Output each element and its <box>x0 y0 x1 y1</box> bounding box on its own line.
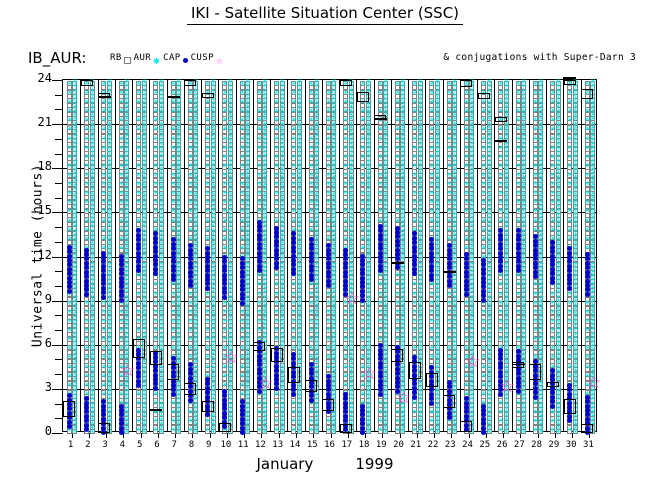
aur-asterisk: ✳ <box>308 326 315 333</box>
aur-asterisk: ✳ <box>170 135 177 142</box>
y-tick-minor-16 <box>55 198 63 199</box>
aur-asterisk: ✳ <box>135 390 142 397</box>
day-column-4: ✳✳✳✳✳✳✳✳✳✳✳✳✳✳✳✳✳✳✳✳✳✳✳✳✳✳✳✳✳✳✳✳✳✳✳✳✳✳✳✳… <box>115 80 132 431</box>
cap-dot <box>188 243 193 248</box>
cap-dot <box>240 261 245 266</box>
aur-asterisk: ✳ <box>100 98 107 105</box>
aur-asterisk: ✳ <box>83 189 90 196</box>
aur-asterisk: ✳ <box>273 217 280 224</box>
aur-asterisk: ✳ <box>204 226 211 233</box>
aur-asterisk: ✳ <box>187 335 194 342</box>
cap-dot <box>84 401 89 406</box>
aur-asterisk: ✳ <box>135 171 142 178</box>
aur-asterisk: ✳ <box>152 335 159 342</box>
cap-dot <box>257 220 262 225</box>
aur-asterisk: ✳ <box>170 125 177 132</box>
aur-asterisk: ✳ <box>135 189 142 196</box>
aur-asterisk: ✳ <box>239 390 246 397</box>
aur-asterisk: ✳ <box>290 426 297 433</box>
aur-asterisk: ✳ <box>290 207 297 214</box>
legend-label-aur: AUR <box>134 53 151 63</box>
aur-asterisk: ✳ <box>308 408 315 415</box>
aur-asterisk: ✳ <box>221 217 228 224</box>
aur-asterisk: ✳ <box>83 207 90 214</box>
legend-label-cusp: CUSP <box>191 53 214 63</box>
aur-asterisk: ✳ <box>273 89 280 96</box>
aur-asterisk: ✳ <box>118 308 125 315</box>
aur-asterisk: ✳ <box>118 335 125 342</box>
cap-dot <box>188 252 193 257</box>
aur-asterisk: ✳ <box>170 299 177 306</box>
aur-asterisk: ✳ <box>221 89 228 96</box>
legend-label-cap: CAP <box>163 53 180 63</box>
cap-dot <box>171 237 176 242</box>
aur-asterisk: ✳ <box>135 80 142 87</box>
aur-asterisk: ✳ <box>118 98 125 105</box>
aur-asterisk: ✳ <box>152 80 159 87</box>
aur-asterisk: ✳ <box>135 308 142 315</box>
aur-asterisk: ✳ <box>66 198 73 205</box>
aur-asterisk: ✳ <box>239 372 246 379</box>
aur-asterisk: ✳ <box>256 317 263 324</box>
aur-asterisk: ✳ <box>83 326 90 333</box>
y-tick-minor-4 <box>55 374 63 375</box>
cap-dot <box>240 417 245 422</box>
cap-dot <box>309 255 314 260</box>
aur-asterisk: ✳ <box>325 217 332 224</box>
aur-asterisk: ✳ <box>66 153 73 160</box>
aur-asterisk: ✳ <box>239 363 246 370</box>
aur-asterisk: ✳ <box>325 299 332 306</box>
cap-dot <box>136 379 141 384</box>
aur-asterisk: ✳ <box>325 326 332 333</box>
y-tick-major-21 <box>52 124 63 125</box>
aur-asterisk: ✳ <box>187 353 194 360</box>
aur-asterisk: ✳ <box>66 162 73 169</box>
aur-asterisk: ✳ <box>204 235 211 242</box>
cap-dot <box>274 239 279 244</box>
cap-dot <box>257 224 262 229</box>
aur-asterisk: ✳ <box>256 399 263 406</box>
aur-asterisk: ✳ <box>256 153 263 160</box>
aur-asterisk: ✳ <box>118 135 125 142</box>
aur-asterisk: ✳ <box>325 226 332 233</box>
aur-asterisk: ✳ <box>187 408 194 415</box>
aur-asterisk: ✳ <box>66 372 73 379</box>
aur-asterisk: ✳ <box>325 426 332 433</box>
y-tick-major-15 <box>52 212 63 213</box>
cap-dot <box>257 255 262 260</box>
aur-asterisk: ✳ <box>221 326 228 333</box>
aur-asterisk: ✳ <box>100 372 107 379</box>
cap-dot <box>309 242 314 247</box>
aur-asterisk: ✳ <box>100 381 107 388</box>
aur-asterisk: ✳ <box>135 399 142 406</box>
aur-asterisk: ✳ <box>221 226 228 233</box>
aur-asterisk: ✳ <box>152 299 159 306</box>
y-tick-minor-5 <box>55 359 63 360</box>
aur-asterisk: ✳ <box>152 280 159 287</box>
aur-asterisk: ✳ <box>290 189 297 196</box>
aur-asterisk: ✳ <box>100 207 107 214</box>
page-title-text: IKI - Satellite Situation Center (SSC) <box>187 4 463 25</box>
aur-asterisk: ✳ <box>325 125 332 132</box>
cap-dot <box>222 398 227 403</box>
aur-asterisk: ✳ <box>256 417 263 424</box>
day-column-13: ✳✳✳✳✳✳✳✳✳✳✳✳✳✳✳✳✳✳✳✳✳✳✳✳✳✳✳✳✳✳✳✳✳✳✳✳✳✳✳✳… <box>270 80 287 431</box>
cap-dot <box>240 283 245 288</box>
aur-asterisk: ✳ <box>221 153 228 160</box>
aur-asterisk: ✳ <box>273 135 280 142</box>
aur-asterisk: ✳ <box>187 107 194 114</box>
aur-asterisk: ✳ <box>66 217 73 224</box>
aur-asterisk: ✳ <box>308 144 315 151</box>
cap-dot <box>309 367 314 372</box>
aur-asterisk: ✳ <box>187 135 194 142</box>
cap-dot <box>274 373 279 378</box>
aur-asterisk: ✳ <box>135 153 142 160</box>
cap-dot <box>240 430 245 435</box>
y-tick-minor-13 <box>55 242 63 243</box>
cap-dot <box>240 279 245 284</box>
cap-dot <box>309 237 314 242</box>
aur-asterisk: ✳ <box>290 180 297 187</box>
aur-asterisk: ✳ <box>256 125 263 132</box>
aur-asterisk: ✳ <box>152 290 159 297</box>
aur-asterisk: ✳ <box>100 326 107 333</box>
aur-asterisk: ✳ <box>239 207 246 214</box>
aur-asterisk: ✳ <box>170 326 177 333</box>
aur-asterisk: ✳ <box>83 235 90 242</box>
aur-asterisk: ✳ <box>239 235 246 242</box>
aur-asterisk: ✳ <box>325 198 332 205</box>
aur-asterisk: ✳ <box>66 135 73 142</box>
aur-asterisk: ✳ <box>273 317 280 324</box>
aur-asterisk: ✳ <box>118 125 125 132</box>
cap-dot <box>136 233 141 238</box>
aur-asterisk: ✳ <box>135 317 142 324</box>
aur-asterisk: ✳ <box>273 171 280 178</box>
aur-asterisk: ✳ <box>256 162 263 169</box>
aur-asterisk: ✳ <box>187 162 194 169</box>
aur-asterisk: ✳ <box>256 408 263 415</box>
aur-asterisk: ✳ <box>187 180 194 187</box>
aur-asterisk: ✳ <box>135 162 142 169</box>
open-square-icon <box>124 57 131 64</box>
aur-asterisk: ✳ <box>170 89 177 96</box>
aur-asterisk: ✳ <box>187 144 194 151</box>
aur-asterisk: ✳ <box>290 217 297 224</box>
aur-asterisk: ✳ <box>187 317 194 324</box>
cap-dot <box>84 270 89 275</box>
aur-asterisk: ✳ <box>325 144 332 151</box>
aur-asterisk: ✳ <box>204 217 211 224</box>
aur-asterisk: ✳ <box>290 144 297 151</box>
aur-asterisk: ✳ <box>308 162 315 169</box>
aur-asterisk: ✳ <box>290 408 297 415</box>
aur-asterisk: ✳ <box>308 171 315 178</box>
aur-asterisk: ✳ <box>273 308 280 315</box>
rb-box <box>133 339 145 358</box>
aur-asterisk: ✳ <box>221 317 228 324</box>
aur-asterisk: ✳ <box>170 116 177 123</box>
aur-asterisk: ✳ <box>239 308 246 315</box>
aur-asterisk: ✳ <box>66 235 73 242</box>
cap-dot <box>240 421 245 426</box>
aur-asterisk: ✳ <box>152 326 159 333</box>
cap-dot <box>67 258 72 263</box>
conjugation-note: & conjugations with Super-Darn 3 <box>443 52 636 63</box>
aur-asterisk: ✳ <box>273 399 280 406</box>
aur-asterisk: ✳ <box>290 290 297 297</box>
aur-asterisk: ✳ <box>118 235 125 242</box>
aur-asterisk: ✳ <box>221 144 228 151</box>
aur-asterisk: ✳ <box>239 353 246 360</box>
aur-asterisk: ✳ <box>204 299 211 306</box>
aur-asterisk: ✳ <box>308 198 315 205</box>
aur-asterisk: ✳ <box>239 189 246 196</box>
cap-dot <box>309 273 314 278</box>
aur-asterisk: ✳ <box>239 98 246 105</box>
dataset-label: IB_AUR: <box>28 49 86 67</box>
cap-dot <box>171 383 176 388</box>
aur-asterisk: ✳ <box>152 198 159 205</box>
chart-legend: RBAUR✱CAPCUSP☆ <box>110 53 227 64</box>
aur-asterisk: ✳ <box>66 299 73 306</box>
aur-asterisk: ✳ <box>273 426 280 433</box>
y-tick-minor-23 <box>55 95 63 96</box>
aur-asterisk: ✳ <box>170 162 177 169</box>
aur-asterisk: ✳ <box>100 363 107 370</box>
aur-asterisk: ✳ <box>239 344 246 351</box>
aur-asterisk: ✳ <box>118 162 125 169</box>
cap-dot <box>188 376 193 381</box>
aur-asterisk: ✳ <box>204 125 211 132</box>
aur-asterisk: ✳ <box>290 344 297 351</box>
aur-asterisk: ✳ <box>170 399 177 406</box>
aur-asterisk: ✳ <box>83 198 90 205</box>
aur-asterisk: ✳ <box>135 125 142 132</box>
aur-asterisk: ✳ <box>135 417 142 424</box>
aur-asterisk: ✳ <box>239 125 246 132</box>
cap-dot <box>188 398 193 403</box>
aur-asterisk: ✳ <box>273 280 280 287</box>
aur-asterisk: ✳ <box>273 180 280 187</box>
aur-asterisk: ✳ <box>256 116 263 123</box>
cap-dot <box>240 426 245 431</box>
aur-asterisk: ✳ <box>308 153 315 160</box>
cap-dot <box>274 226 279 231</box>
aur-asterisk: ✳ <box>204 171 211 178</box>
aur-asterisk: ✳ <box>66 363 73 370</box>
aur-asterisk: ✳ <box>308 180 315 187</box>
cap-dot <box>171 246 176 251</box>
aur-asterisk: ✳ <box>239 116 246 123</box>
cap-dot <box>188 248 193 253</box>
aur-asterisk: ✳ <box>100 353 107 360</box>
cap-dot <box>119 404 124 409</box>
aur-asterisk: ✳ <box>118 226 125 233</box>
aur-asterisk: ✳ <box>325 363 332 370</box>
aur-asterisk: ✳ <box>221 299 228 306</box>
aur-asterisk: ✳ <box>118 198 125 205</box>
rb-box <box>271 348 283 363</box>
cap-dot <box>84 248 89 253</box>
aur-asterisk: ✳ <box>83 353 90 360</box>
aur-asterisk: ✳ <box>135 217 142 224</box>
rb-box <box>184 383 196 395</box>
aur-asterisk: ✳ <box>187 98 194 105</box>
rb-box <box>305 380 317 392</box>
aur-asterisk: ✳ <box>204 207 211 214</box>
aur-asterisk: ✳ <box>221 135 228 142</box>
aur-asterisk: ✳ <box>83 89 90 96</box>
day-column-7: ✳✳✳✳✳✳✳✳✳✳✳✳✳✳✳✳✳✳✳✳✳✳✳✳✳✳✳✳✳✳✳✳✳✳✳✳✳✳✳✳… <box>167 80 184 431</box>
cap-dot <box>119 280 124 285</box>
cap-dot <box>171 392 176 397</box>
aur-asterisk: ✳ <box>83 381 90 388</box>
aur-asterisk: ✳ <box>273 417 280 424</box>
aur-asterisk: ✳ <box>325 107 332 114</box>
aur-asterisk: ✳ <box>239 180 246 187</box>
aur-asterisk: ✳ <box>100 226 107 233</box>
aur-asterisk: ✳ <box>290 80 297 87</box>
aur-asterisk: ✳ <box>325 417 332 424</box>
cap-dot <box>309 398 314 403</box>
aur-asterisk: ✳ <box>66 116 73 123</box>
aur-asterisk: ✳ <box>308 308 315 315</box>
aur-asterisk: ✳ <box>118 353 125 360</box>
aur-asterisk: ✳ <box>308 135 315 142</box>
cap-dot <box>257 246 262 251</box>
aur-asterisk: ✳ <box>152 162 159 169</box>
aur-asterisk: ✳ <box>83 153 90 160</box>
cap-dot <box>136 242 141 247</box>
aur-asterisk: ✳ <box>66 180 73 187</box>
aur-asterisk: ✳ <box>135 426 142 433</box>
aur-asterisk: ✳ <box>308 417 315 424</box>
aur-asterisk: ✳ <box>170 317 177 324</box>
aur-asterisk: ✳ <box>239 162 246 169</box>
aur-asterisk: ✳ <box>273 125 280 132</box>
aur-asterisk: ✳ <box>256 290 263 297</box>
cap-dot <box>67 267 72 272</box>
rb-box <box>288 367 300 383</box>
aur-asterisk: ✳ <box>325 189 332 196</box>
cap-dot <box>309 268 314 273</box>
aur-asterisk: ✳ <box>273 207 280 214</box>
y-tick-minor-20 <box>55 139 63 140</box>
rb-box <box>63 401 75 417</box>
cap-dot <box>136 383 141 388</box>
aur-asterisk: ✳ <box>290 125 297 132</box>
aur-asterisk: ✳ <box>204 189 211 196</box>
cap-dot <box>188 367 193 372</box>
aur-asterisk: ✳ <box>118 107 125 114</box>
aur-asterisk: ✳ <box>290 308 297 315</box>
aur-asterisk: ✳ <box>239 89 246 96</box>
aur-asterisk: ✳ <box>100 217 107 224</box>
cap-dot <box>171 387 176 392</box>
aur-asterisk: ✳ <box>187 207 194 214</box>
aur-asterisk: ✳ <box>221 308 228 315</box>
y-tick-minor-22 <box>55 109 63 110</box>
aur-asterisk: ✳ <box>170 417 177 424</box>
cap-dot <box>274 386 279 391</box>
aur-asterisk: ✳ <box>83 180 90 187</box>
aur-asterisk: ✳ <box>221 171 228 178</box>
aur-asterisk: ✳ <box>187 326 194 333</box>
aur-asterisk: ✳ <box>256 180 263 187</box>
aur-asterisk: ✳ <box>308 226 315 233</box>
aur-asterisk: ✳ <box>118 244 125 251</box>
cap-dot <box>240 301 245 306</box>
aur-asterisk: ✳ <box>290 89 297 96</box>
aur-asterisk: ✳ <box>204 417 211 424</box>
aur-asterisk: ✳ <box>239 335 246 342</box>
aur-asterisk: ✳ <box>221 180 228 187</box>
aur-asterisk: ✳ <box>83 162 90 169</box>
aur-asterisk: ✳ <box>100 308 107 315</box>
aur-asterisk: ✳ <box>152 189 159 196</box>
aur-asterisk: ✳ <box>170 153 177 160</box>
cap-dot <box>274 364 279 369</box>
aur-asterisk: ✳ <box>135 207 142 214</box>
day-column-5: ✳✳✳✳✳✳✳✳✳✳✳✳✳✳✳✳✳✳✳✳✳✳✳✳✳✳✳✳✳✳✳✳✳✳✳✳✳✳✳✳… <box>132 80 149 431</box>
y-tick-minor-11 <box>55 271 63 272</box>
aur-asterisk: ✳ <box>308 80 315 87</box>
aur-asterisk: ✳ <box>273 390 280 397</box>
aur-asterisk: ✳ <box>66 207 73 214</box>
cap-dot <box>257 354 262 359</box>
aur-asterisk: ✳ <box>100 125 107 132</box>
cap-dot <box>67 280 72 285</box>
aur-asterisk: ✳ <box>135 180 142 187</box>
aur-asterisk: ✳ <box>273 98 280 105</box>
aur-asterisk: ✳ <box>239 80 246 87</box>
aur-asterisk: ✳ <box>221 98 228 105</box>
aur-asterisk: ✳ <box>221 207 228 214</box>
aur-asterisk: ✳ <box>118 390 125 397</box>
cap-dot <box>119 289 124 294</box>
rb-tick <box>98 96 111 98</box>
cap-dot <box>119 276 124 281</box>
aur-asterisk: ✳ <box>308 107 315 114</box>
day-column-6: ✳✳✳✳✳✳✳✳✳✳✳✳✳✳✳✳✳✳✳✳✳✳✳✳✳✳✳✳✳✳✳✳✳✳✳✳✳✳✳✳… <box>149 80 166 431</box>
rb-box <box>150 351 162 366</box>
aur-asterisk: ✳ <box>187 235 194 242</box>
y-tick-minor-1 <box>55 418 63 419</box>
aur-asterisk: ✳ <box>152 180 159 187</box>
y-tick-minor-10 <box>55 286 63 287</box>
aur-asterisk: ✳ <box>135 116 142 123</box>
aur-asterisk: ✳ <box>66 144 73 151</box>
aur-asterisk: ✳ <box>256 326 263 333</box>
aur-asterisk: ✳ <box>152 171 159 178</box>
aur-asterisk: ✳ <box>204 363 211 370</box>
aur-asterisk: ✳ <box>290 107 297 114</box>
aur-asterisk: ✳ <box>325 335 332 342</box>
cap-dot <box>188 279 193 284</box>
aur-asterisk: ✳ <box>152 207 159 214</box>
aur-asterisk: ✳ <box>152 98 159 105</box>
aur-asterisk: ✳ <box>221 235 228 242</box>
cap-dot <box>84 423 89 428</box>
aur-asterisk: ✳ <box>221 372 228 379</box>
aur-asterisk: ✳ <box>204 80 211 87</box>
aur-asterisk: ✳ <box>239 171 246 178</box>
cap-dot <box>205 386 210 391</box>
